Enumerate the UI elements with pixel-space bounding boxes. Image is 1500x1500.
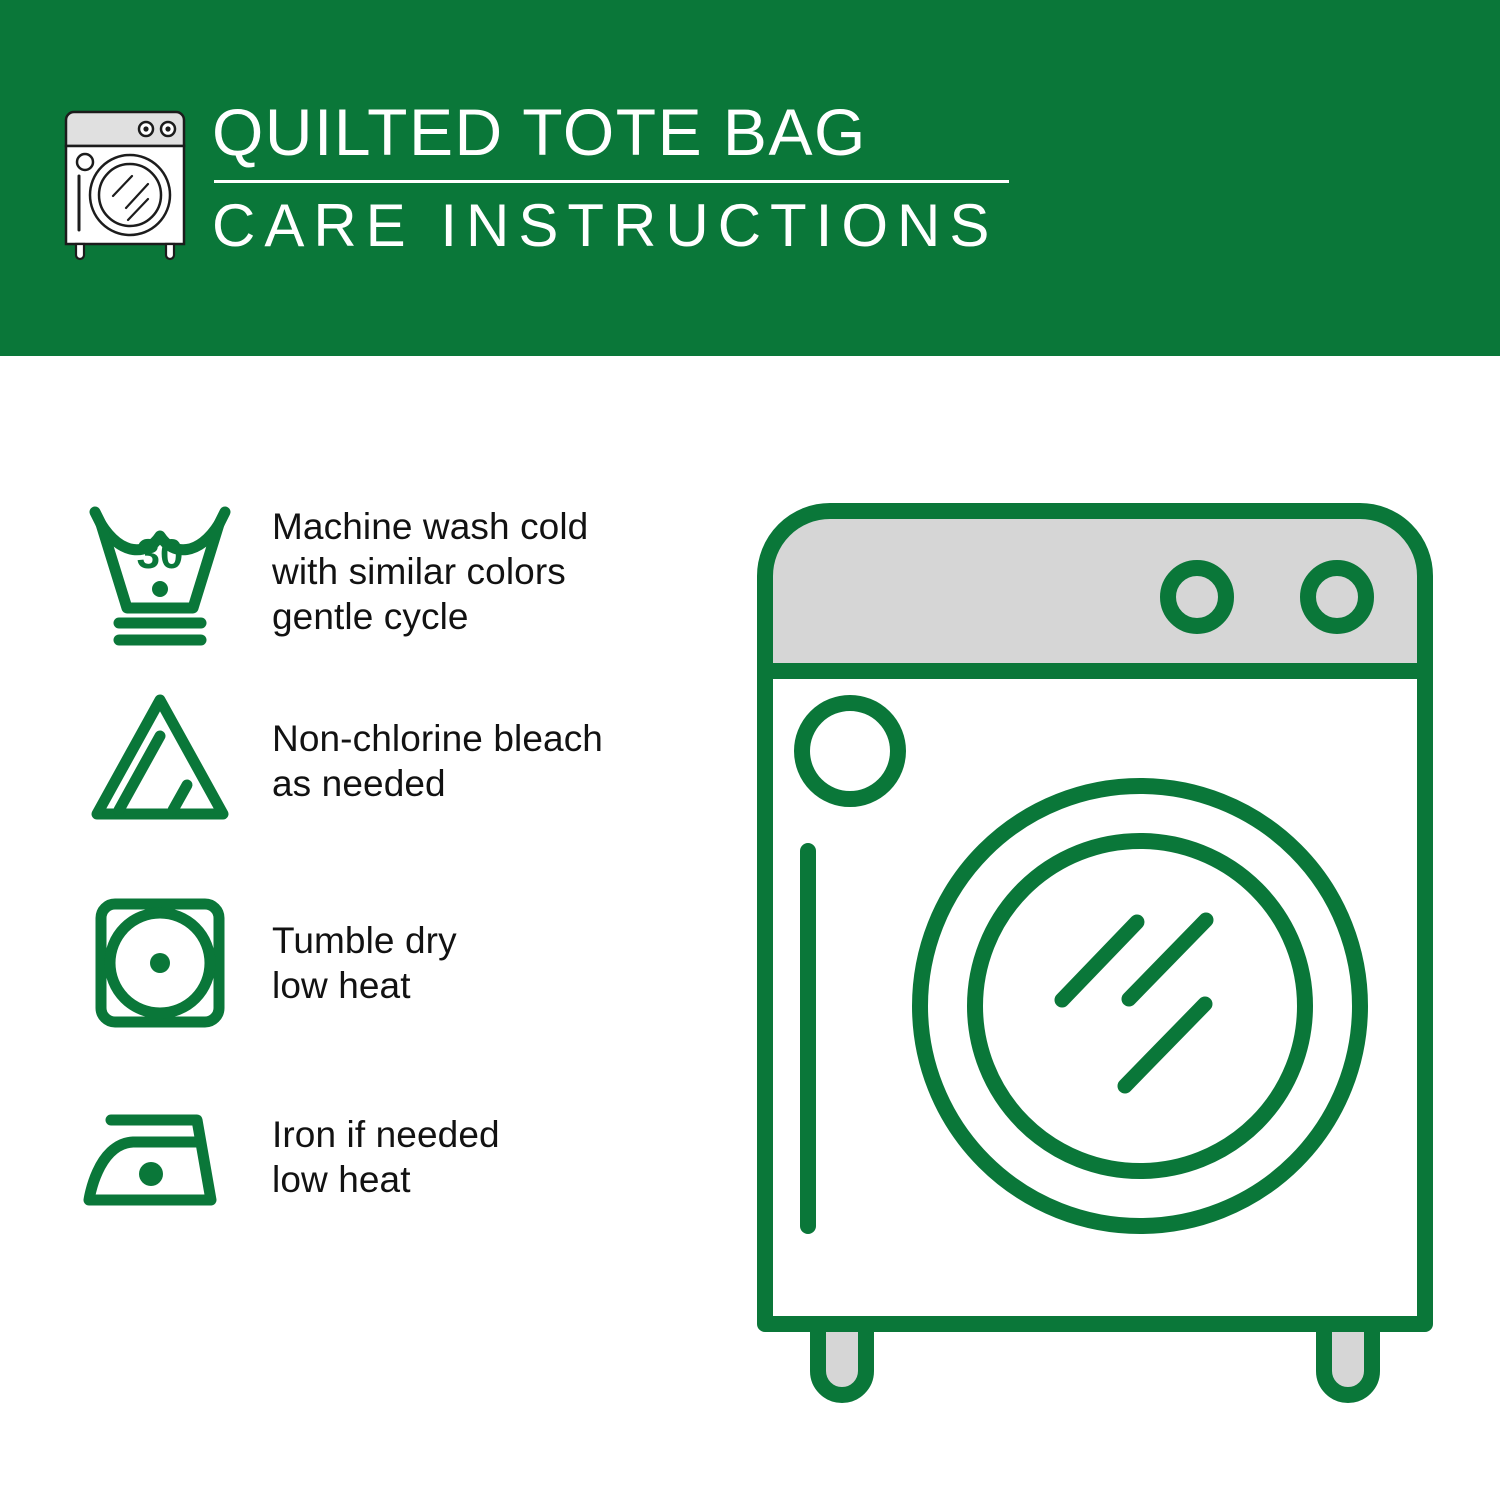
washing-machine-icon bbox=[60, 104, 190, 264]
care-label-line: as needed bbox=[272, 761, 603, 806]
care-label-line: Non-chlorine bleach bbox=[272, 716, 603, 761]
care-row-iron: Iron if needed low heat bbox=[70, 1082, 710, 1232]
care-label-line: gentle cycle bbox=[272, 594, 588, 639]
tumble-dry-low-symbol bbox=[70, 888, 250, 1038]
care-label-line: Iron if needed bbox=[272, 1112, 500, 1157]
care-label-bleach: Non-chlorine bleach as needed bbox=[250, 716, 603, 806]
non-chlorine-bleach-symbol bbox=[70, 686, 250, 836]
care-label-machine-wash: Machine wash cold with similar colors ge… bbox=[250, 504, 588, 639]
header-banner: QUILTED TOTE BAG CARE INSTRUCTIONS bbox=[0, 0, 1500, 356]
wash-temperature-label: 30 bbox=[137, 530, 184, 577]
drum-door-outer bbox=[920, 786, 1360, 1226]
care-label-line: with similar colors bbox=[272, 549, 588, 594]
iron-low-heat-symbol bbox=[70, 1082, 250, 1232]
care-instruction-list: 30 Machine wash cold with similar colors… bbox=[70, 496, 710, 1232]
machine-wash-30-gentle-symbol: 30 bbox=[70, 496, 250, 646]
page-title: QUILTED TOTE BAG bbox=[212, 96, 867, 168]
leg-right bbox=[1324, 1324, 1372, 1395]
care-row-bleach: Non-chlorine bleach as needed bbox=[70, 686, 710, 836]
care-label-line: low heat bbox=[272, 963, 457, 1008]
indicator-light bbox=[802, 703, 898, 799]
drum-door-inner bbox=[975, 841, 1305, 1171]
care-label-line: Tumble dry bbox=[272, 918, 457, 963]
control-panel bbox=[765, 511, 1425, 671]
leg-left bbox=[818, 1324, 866, 1395]
drum-stripes bbox=[1062, 920, 1206, 1086]
page-subtitle: CARE INSTRUCTIONS bbox=[212, 193, 998, 259]
header-content: QUILTED TOTE BAG CARE INSTRUCTIONS bbox=[60, 96, 1009, 264]
care-label-line: Machine wash cold bbox=[272, 504, 588, 549]
care-row-machine-wash: 30 Machine wash cold with similar colors… bbox=[70, 496, 710, 646]
care-label-tumble-dry: Tumble dry low heat bbox=[250, 918, 457, 1008]
care-label-iron: Iron if needed low heat bbox=[250, 1112, 500, 1202]
content-area: 30 Machine wash cold with similar colors… bbox=[0, 356, 1500, 1500]
care-label-line: low heat bbox=[272, 1157, 500, 1202]
care-row-tumble-dry: Tumble dry low heat bbox=[70, 888, 710, 1038]
title-divider bbox=[214, 180, 1009, 183]
title-block: QUILTED TOTE BAG CARE INSTRUCTIONS bbox=[212, 96, 1009, 259]
front-load-washing-machine-illustration bbox=[740, 486, 1450, 1416]
